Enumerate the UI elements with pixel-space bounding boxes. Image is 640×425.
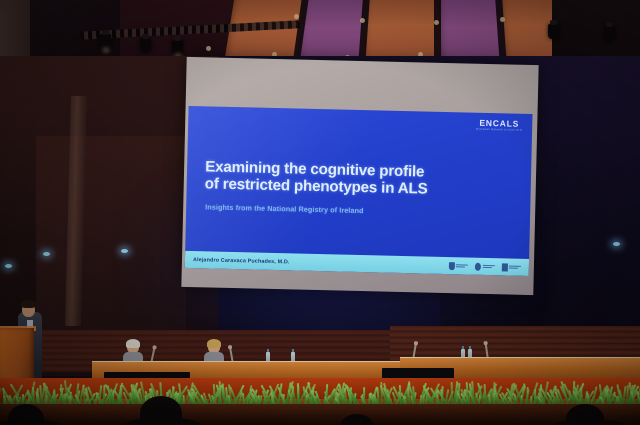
wall-led-icon [613,242,620,246]
institution-logo-1-icon [448,262,468,270]
slide-title: Examining the cognitive profile of restr… [205,158,506,199]
institution-logo-3-icon [501,263,521,271]
spotlight-icon [548,24,559,39]
stage-floor [0,404,640,425]
stage-plant [631,380,640,406]
encals-wordmark: ENCALS [476,119,522,129]
audience-shoulders [124,418,202,425]
audience-shoulders [552,420,628,425]
spotlight-icon [100,34,111,49]
slide-subtitle: Insights from the National Registry of I… [205,202,505,218]
spotlight-icon [172,40,183,55]
wall-led-icon [43,252,50,256]
spotlight-icon [604,26,615,41]
projection-screen: ENCALS European Network to Cure ALS Exam… [181,57,538,295]
presenter-name: Alejandro Caravaca Puchades, M.D. [193,257,290,265]
encals-logo: ENCALS European Network to Cure ALS [476,119,522,133]
wall-led-icon [121,249,128,253]
institution-logo-2-icon [475,262,495,270]
footer-logo-group [448,262,521,272]
wall-led-icon [5,264,12,268]
presenter-hair [21,300,36,308]
conference-hall-photo: ENCALS European Network to Cure ALS Exam… [0,0,640,425]
presentation-slide: ENCALS European Network to Cure ALS Exam… [185,106,533,276]
spotlight-icon [140,38,151,53]
encals-tagline: European Network to Cure ALS [476,129,522,133]
